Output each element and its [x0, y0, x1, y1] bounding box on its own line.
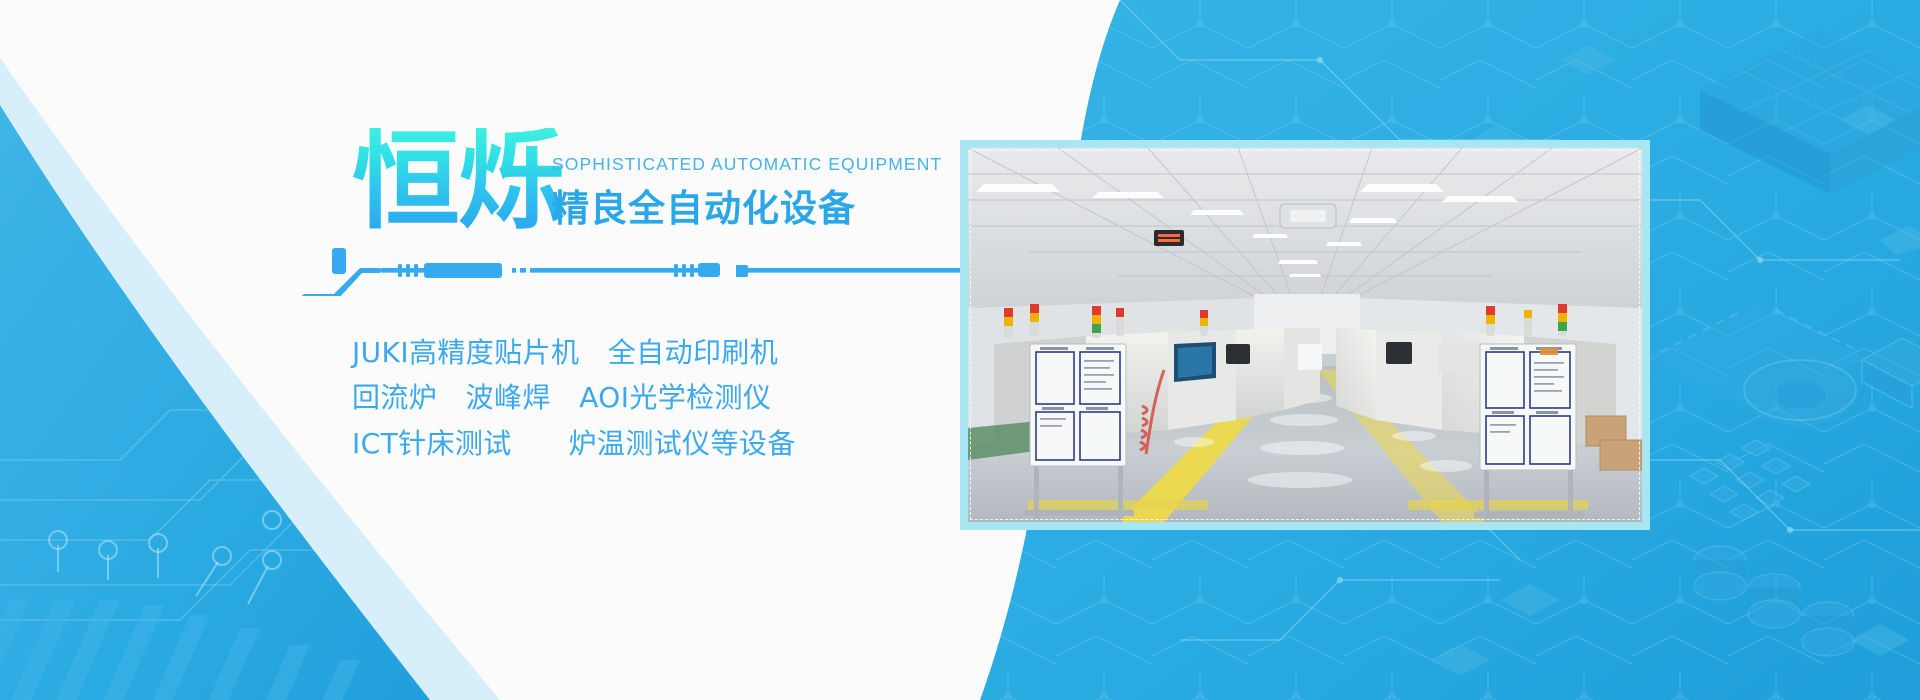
slogan-english: SOPHISTICATED AUTOMATIC EQUIPMENT — [552, 154, 942, 175]
hero-banner: 恒烁 SOPHISTICATED AUTOMATIC EQUIPMENT 精良全… — [0, 0, 1920, 700]
product-line: JUKI高精度贴片机 全自动印刷机 — [352, 330, 992, 375]
circuit-divider — [294, 248, 994, 296]
product-line: ICT针床测试 炉温测试仪等设备 — [352, 421, 992, 466]
slogan-chinese: 精良全自动化设备 — [552, 178, 856, 232]
brand-logo-text: 恒烁 — [352, 128, 564, 236]
factory-photo — [968, 148, 1642, 522]
factory-photo-card — [960, 140, 1650, 530]
banner-copy: 恒烁 SOPHISTICATED AUTOMATIC EQUIPMENT 精良全… — [352, 140, 972, 560]
product-line: 回流炉 波峰焊 AOI光学检测仪 — [352, 375, 992, 420]
product-list: JUKI高精度贴片机 全自动印刷机 回流炉 波峰焊 AOI光学检测仪 ICT针床… — [352, 330, 992, 466]
